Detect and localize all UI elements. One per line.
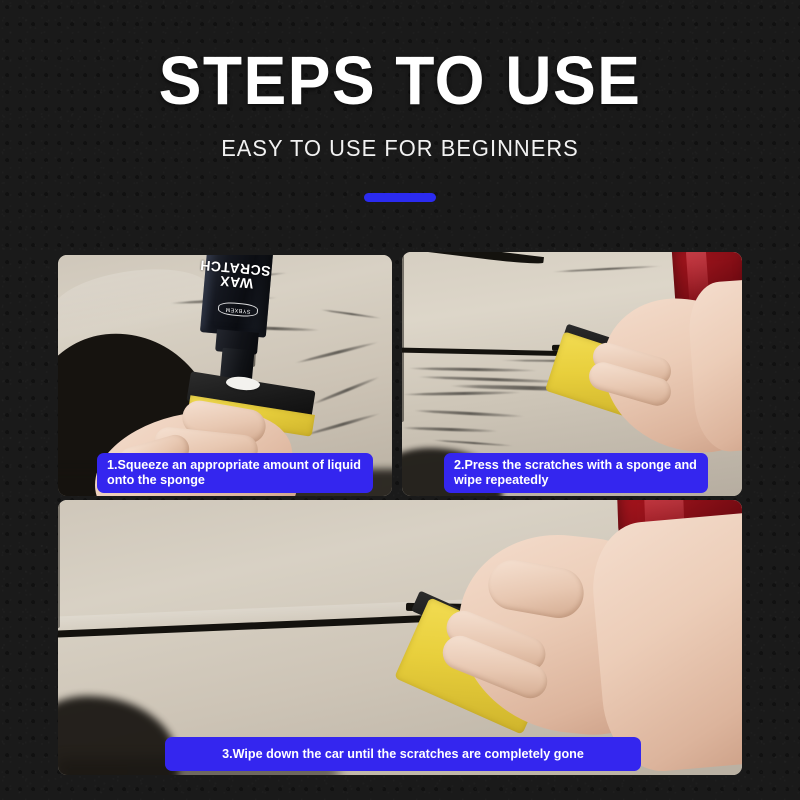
step-2-caption-text: 2.Press the scratches with a sponge and …: [454, 458, 698, 488]
bottle-brand-text: SYBXEM: [225, 306, 251, 314]
door-gap-vertical: [58, 500, 60, 628]
step-1-caption-text: 1.Squeeze an appropriate amount of liqui…: [107, 458, 363, 488]
step-2-caption: 2.Press the scratches with a sponge and …: [444, 453, 708, 493]
accent-divider-bar: [364, 193, 436, 202]
page-subtitle: EASY TO USE FOR BEGINNERS: [20, 114, 780, 162]
step-3-caption: 3.Wipe down the car until the scratches …: [165, 737, 641, 771]
step-3-caption-text: 3.Wipe down the car until the scratches …: [222, 747, 584, 762]
bottle-label-text: WAX SCRATCH: [203, 258, 271, 292]
step-1-caption: 1.Squeeze an appropriate amount of liqui…: [97, 453, 373, 493]
door-gap-vertical: [402, 252, 404, 422]
step-3-photo: [58, 500, 742, 775]
page-title: STEPS TO USE: [28, 0, 772, 114]
step-3-scene: [58, 500, 742, 775]
header: STEPS TO USE EASY TO USE FOR BEGINNERS: [0, 0, 800, 202]
